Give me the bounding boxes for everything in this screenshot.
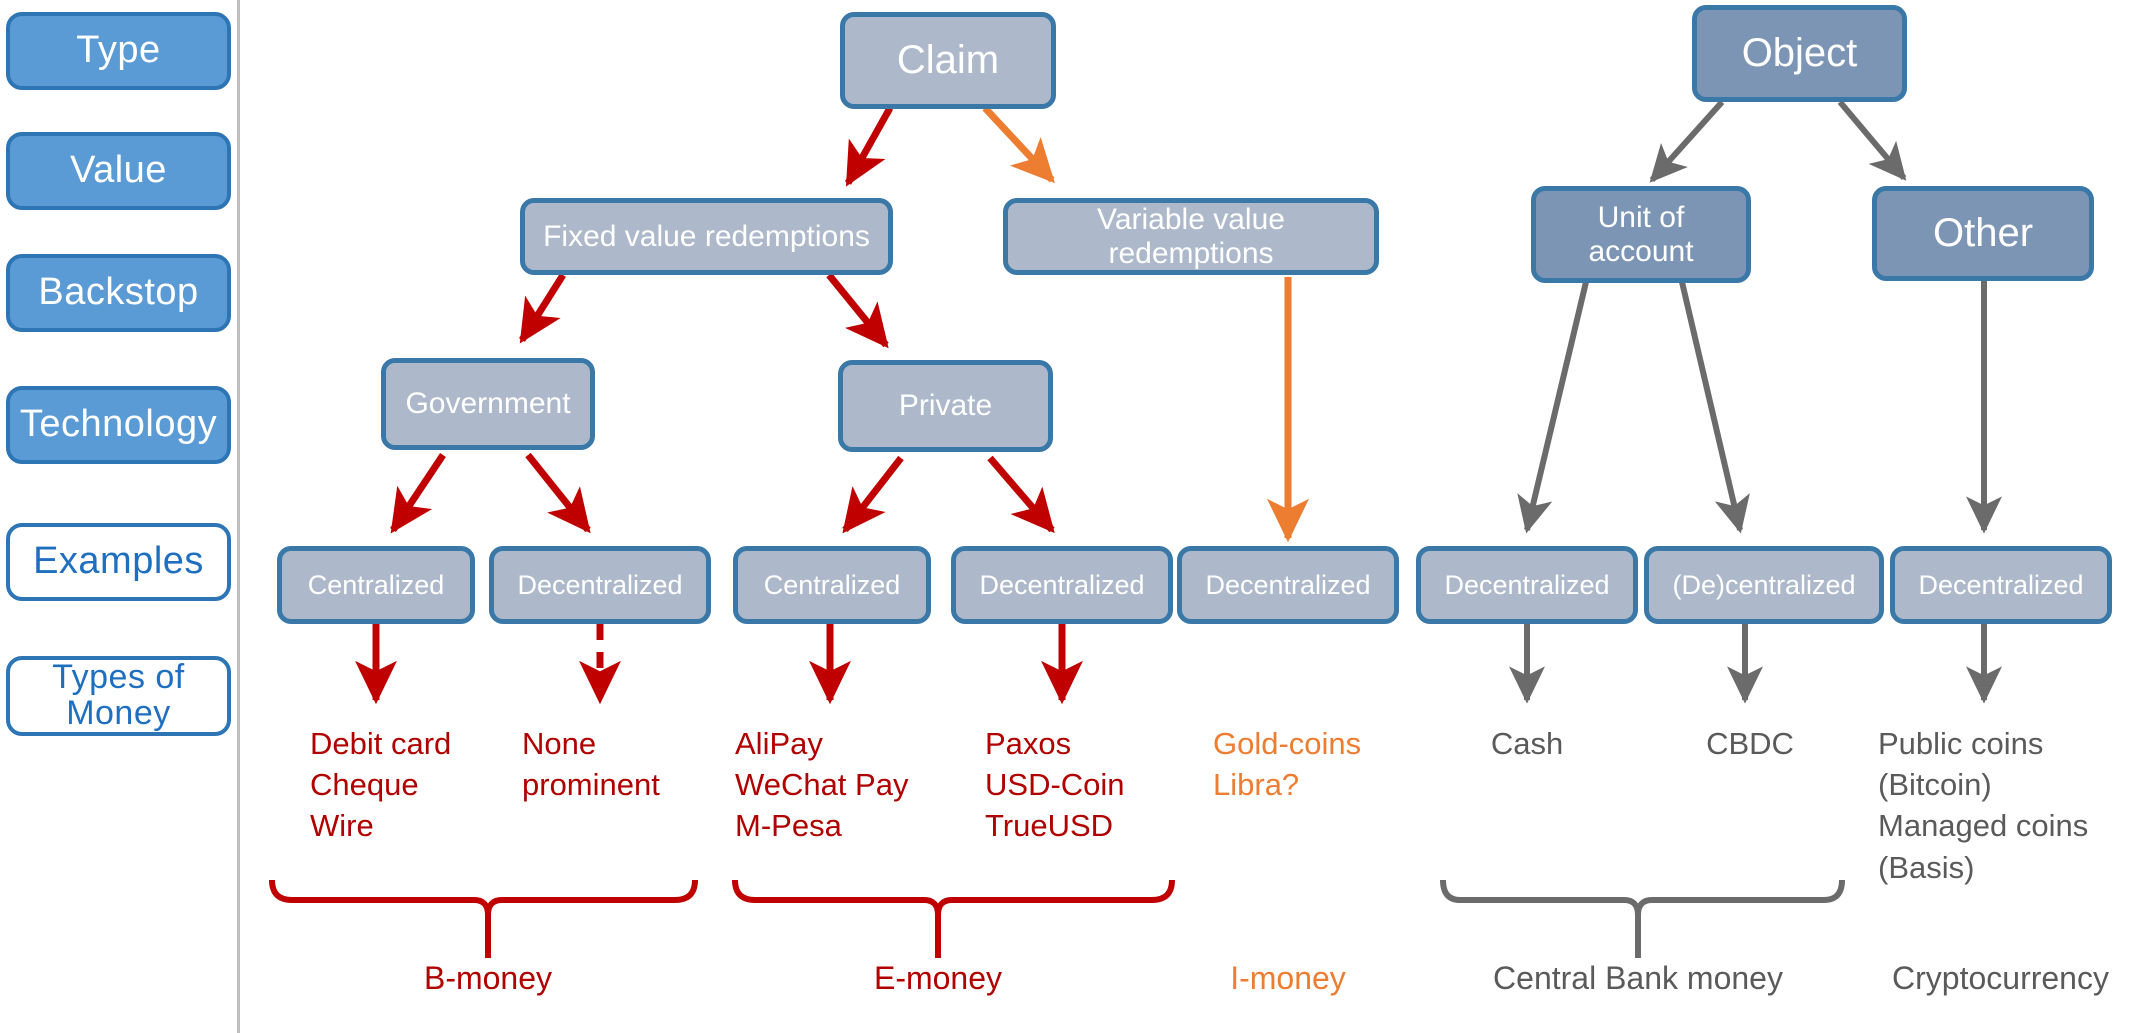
row-label-backstop-text: Backstop [38,273,198,313]
row-label-types-of-money: Types of Money [6,656,231,736]
examples-i-money: Gold-coins Libra? [1213,723,1423,805]
diagram-canvas: Type Value Backstop Technology Examples … [0,0,2145,1033]
node-tech-ivalue-decentralized-label: Decentralized [1205,570,1370,600]
row-label-value-text: Value [70,151,167,191]
node-tech-gov-decentralized[interactable]: Decentralized [489,546,711,624]
edge-object-to-other [1840,102,1904,178]
node-tech-uoa-decentralized[interactable]: Decentralized [1416,546,1638,624]
left-column-divider [237,0,240,1033]
examples-cash: Cash [1437,723,1617,764]
node-fixed-value-redemptions[interactable]: Fixed value redemptions [520,198,893,275]
node-tech-priv-decentralized[interactable]: Decentralized [951,546,1173,624]
examples-e-centralized: AliPay WeChat Pay M-Pesa [735,723,955,847]
node-tech-ivalue-decentralized[interactable]: Decentralized [1177,546,1399,624]
money-type-i-money: I-money [1163,960,1413,997]
node-tech-gov-centralized-label: Centralized [308,570,445,600]
edge-government-to-decentralized [528,455,588,530]
node-unit-of-account-label: Unit of account [1588,201,1693,268]
node-tech-uoa-de-centralized[interactable]: (De)centralized [1644,546,1884,624]
row-label-technology: Technology [6,386,231,464]
node-tech-gov-centralized[interactable]: Centralized [277,546,475,624]
node-government[interactable]: Government [381,358,595,450]
examples-b-centralized: Debit card Cheque Wire [310,723,520,847]
node-object-label: Object [1742,31,1858,76]
edge-private-to-centralized [845,458,901,530]
row-label-technology-text: Technology [20,405,217,445]
edge-claim-to-variable [985,108,1052,180]
node-tech-other-decentralized-label: Decentralized [1918,570,2083,600]
edge-uoa-to-decentralized [1527,282,1586,530]
node-tech-priv-decentralized-label: Decentralized [979,570,1144,600]
node-object[interactable]: Object [1692,5,1907,102]
edge-private-to-decentralized [990,458,1052,530]
edge-fixed-to-government [522,275,563,340]
examples-e-decentralized: Paxos USD-Coin TrueUSD [985,723,1185,847]
node-private[interactable]: Private [838,360,1053,452]
node-private-label: Private [899,389,992,423]
edge-government-to-centralized [393,455,443,530]
row-label-type-text: Type [76,31,160,71]
connector-layer [0,0,2145,1033]
money-type-central-bank-money: Central Bank money [1438,960,1838,997]
node-government-label: Government [405,387,570,421]
money-type-cryptocurrency: Cryptocurrency [1858,960,2143,997]
node-tech-uoa-de-centralized-label: (De)centralized [1672,570,1855,600]
node-tech-priv-centralized[interactable]: Centralized [733,546,931,624]
node-other[interactable]: Other [1872,186,2094,281]
node-tech-gov-decentralized-label: Decentralized [517,570,682,600]
brace-central-bank-money [1443,880,1842,915]
edge-object-to-unit-of-account [1652,102,1722,180]
money-type-e-money: E-money [788,960,1088,997]
node-variable-value-redemptions-label: Variable value redemptions [1014,203,1368,270]
node-fixed-value-redemptions-label: Fixed value redemptions [543,220,870,254]
edge-claim-to-fixed [848,108,890,183]
row-label-examples-text: Examples [33,542,204,582]
money-type-b-money: B-money [338,960,638,997]
node-tech-priv-centralized-label: Centralized [764,570,901,600]
node-other-label: Other [1933,211,2033,256]
edge-uoa-to-de-centralized [1682,282,1740,530]
node-claim[interactable]: Claim [840,12,1056,109]
row-label-backstop: Backstop [6,254,231,332]
row-label-value: Value [6,132,231,210]
brace-e-money [735,880,1172,915]
row-label-examples: Examples [6,523,231,601]
row-label-type: Type [6,12,231,90]
brace-b-money [272,880,695,915]
node-tech-other-decentralized[interactable]: Decentralized [1890,546,2112,624]
node-unit-of-account[interactable]: Unit of account [1531,186,1751,283]
node-variable-value-redemptions[interactable]: Variable value redemptions [1003,198,1379,275]
examples-b-decentralized: None prominent [522,723,722,805]
examples-cbdc: CBDC [1660,723,1840,764]
edge-fixed-to-private [829,275,886,345]
node-claim-label: Claim [897,38,999,83]
examples-crypto: Public coins (Bitcoin) Managed coins (Ba… [1878,723,2128,888]
node-tech-uoa-decentralized-label: Decentralized [1444,570,1609,600]
row-label-types-of-money-text: Types of Money [52,660,185,731]
